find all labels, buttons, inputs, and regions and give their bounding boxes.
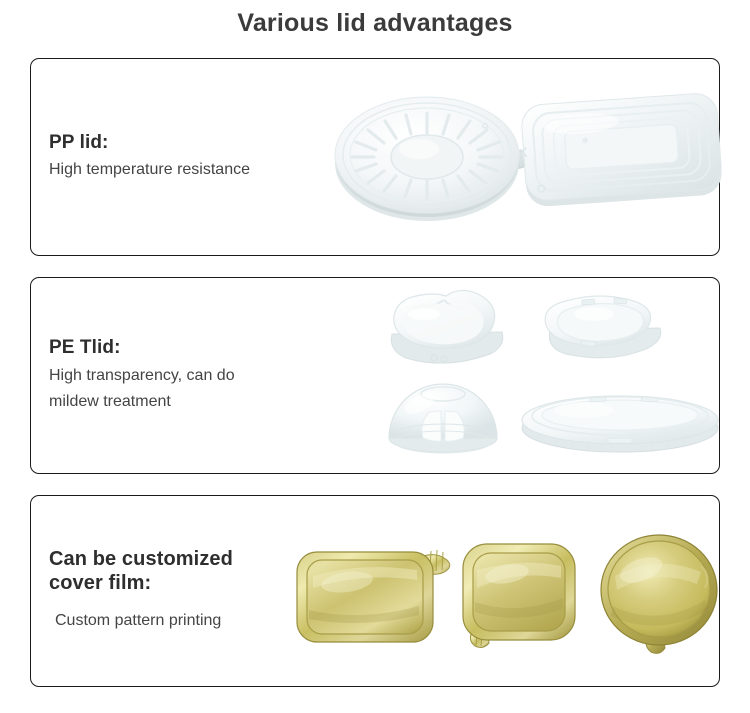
cover-film-subtitle: Custom pattern printing xyxy=(49,608,319,634)
svg-text:♻: ♻ xyxy=(481,121,489,131)
pe-subtitle: High transparency, can do mildew treatme… xyxy=(49,363,319,415)
cover-film-figure-group xyxy=(281,496,713,686)
page-title: Various lid advantages xyxy=(0,9,750,38)
card-pp-lid: PP lid: High temperature resistance xyxy=(30,58,720,256)
pe-square-lid-image xyxy=(536,288,676,374)
pe-dome-lid-image xyxy=(381,374,511,458)
card-pe-lid: PE Tlid: High transparency, can do milde… xyxy=(30,277,720,474)
pp-text-block: PP lid: High temperature resistance xyxy=(49,59,319,255)
svg-text:✻: ✻ xyxy=(582,136,590,145)
pe-heading: PE Tlid: xyxy=(49,336,319,359)
gold-square-cover-film-image xyxy=(449,536,589,656)
pp-heading: PP lid: xyxy=(49,131,319,154)
card-cover-film: Can be customized cover film: Custom pat… xyxy=(30,495,720,687)
gold-round-cover-film-image xyxy=(591,532,731,662)
pe-text-block: PE Tlid: High transparency, can do milde… xyxy=(49,278,319,473)
pe-oval-lid-image xyxy=(516,378,731,458)
pe-heart-lid-image xyxy=(376,286,516,376)
pe-figure-group xyxy=(281,278,713,473)
pp-rectangular-lid-image: ✻ xyxy=(511,79,741,229)
pp-subtitle: High temperature resistance xyxy=(49,157,319,183)
cover-film-heading: Can be customized cover film: xyxy=(49,548,319,595)
gold-rectangular-cover-film-image xyxy=(291,538,461,648)
pp-figure-group: ♻ xyxy=(281,59,713,255)
cover-film-text-block: Can be customized cover film: Custom pat… xyxy=(49,496,319,686)
